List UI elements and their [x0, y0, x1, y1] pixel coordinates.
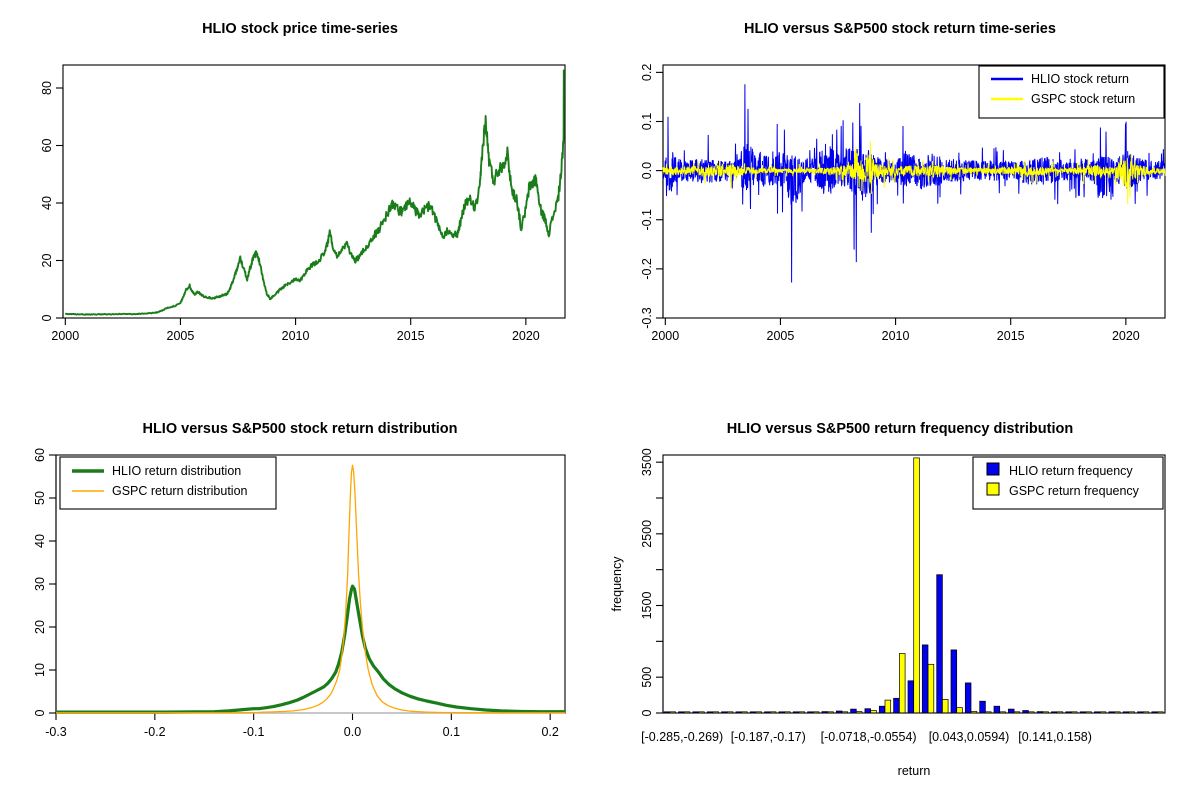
x-tick-label: 0.0: [344, 725, 361, 739]
y-tick-label: 20: [33, 620, 47, 634]
legend-label: GSPC stock return: [1031, 92, 1135, 106]
x-tick-label: 2010: [882, 329, 910, 343]
figure-grid: HLIO stock price time-series 20002005201…: [0, 0, 1200, 800]
panel-return-distribution: HLIO versus S&P500 stock return distribu…: [0, 400, 600, 800]
return-distribution-chart: HLIO versus S&P500 stock return distribu…: [0, 400, 600, 800]
hlio-bar: [994, 706, 1000, 713]
x-tick-label: [0.141,0.158): [1018, 730, 1092, 744]
legend: HLIO return frequencyGSPC return frequen…: [973, 457, 1163, 509]
y-tick-label: 0.1: [640, 113, 654, 130]
axes-group: 20002005201020152020020406080: [40, 65, 565, 343]
x-tick-label: -0.2: [144, 725, 166, 739]
x-tick-label: -0.1: [243, 725, 265, 739]
x-tick-label: 2020: [512, 329, 540, 343]
x-tick-label: 2000: [51, 329, 79, 343]
plot-border: [63, 65, 565, 318]
y-tick-label: 0.2: [640, 64, 654, 81]
y-tick-label: 1500: [640, 592, 654, 620]
x-tick-label: [0.043,0.0594): [929, 730, 1010, 744]
legend-swatch: [987, 483, 999, 495]
hlio-bar: [851, 709, 857, 713]
x-tick-label: [-0.285,-0.269): [641, 730, 723, 744]
hlio-bar: [1008, 709, 1014, 713]
hlio-bar: [922, 645, 928, 713]
y-tick-label: 40: [33, 534, 47, 548]
y-tick-label: 80: [40, 81, 54, 95]
y-tick-label: 50: [33, 491, 47, 505]
panel-return-series: HLIO versus S&P500 stock return time-ser…: [600, 0, 1200, 400]
x-tick-label: 2000: [651, 329, 679, 343]
x-axis-label: return: [898, 764, 931, 778]
data-group: [65, 70, 564, 315]
legend-label: HLIO return frequency: [1009, 464, 1133, 478]
panel-title: HLIO versus S&P500 stock return distribu…: [142, 421, 457, 437]
y-tick-label: 40: [40, 196, 54, 210]
legend-label: HLIO stock return: [1031, 72, 1129, 86]
x-tick-label: 2015: [397, 329, 425, 343]
hlio-bar: [980, 701, 986, 713]
x-tick-label: 0.1: [443, 725, 460, 739]
y-tick-label: -0.1: [640, 209, 654, 231]
gspc-bar: [899, 654, 905, 714]
legend: HLIO stock returnGSPC stock return: [979, 66, 1164, 118]
hlio-bar: [951, 650, 957, 713]
x-tick-label: [-0.0718,-0.0554): [821, 730, 917, 744]
panel-title: HLIO versus S&P500 return frequency dist…: [727, 421, 1073, 437]
gspc-bar: [928, 664, 934, 713]
legend-label: GSPC return frequency: [1009, 484, 1140, 498]
y-tick-label: 0: [40, 314, 54, 321]
hlio-bar: [937, 575, 943, 713]
x-tick-label: 2005: [167, 329, 195, 343]
y-tick-label: 500: [640, 667, 654, 688]
y-tick-label: 60: [40, 139, 54, 153]
legend-label: HLIO return distribution: [112, 464, 241, 478]
hlio-bar: [908, 681, 914, 713]
hlio-bar: [879, 706, 885, 713]
y-tick-label: 3500: [640, 448, 654, 476]
panel-price-series: HLIO stock price time-series 20002005201…: [0, 0, 600, 400]
price-series-chart: HLIO stock price time-series 20002005201…: [0, 0, 600, 400]
y-tick-label: 20: [40, 254, 54, 268]
x-tick-label: 2015: [997, 329, 1025, 343]
x-tick-label: 2010: [282, 329, 310, 343]
y-tick-label: 60: [33, 448, 47, 462]
y-tick-label: 0: [640, 709, 654, 716]
y-tick-label: -0.2: [640, 258, 654, 280]
legend: HLIO return distributionGSPC return dist…: [60, 457, 276, 509]
gspc-bar: [957, 708, 963, 713]
hlio-bar: [894, 698, 900, 713]
x-tick-label: 2005: [767, 329, 795, 343]
gspc-bar: [914, 458, 920, 713]
y-tick-label: 0.0: [640, 162, 654, 179]
return-frequency-chart: HLIO versus S&P500 return frequency dist…: [600, 400, 1200, 800]
y-tick-label: 2500: [640, 520, 654, 548]
x-tick-label: -0.3: [45, 725, 67, 739]
y-tick-label: -0.3: [640, 307, 654, 329]
y-axis-label: frequency: [610, 556, 624, 612]
hlio-bar: [865, 709, 871, 713]
panel-title: HLIO versus S&P500 stock return time-ser…: [744, 21, 1056, 37]
hlio-bar: [965, 683, 971, 713]
x-tick-label: [-0.187,-0.17): [731, 730, 806, 744]
panel-title: HLIO stock price time-series: [202, 21, 398, 37]
x-tick-label: 0.2: [541, 725, 558, 739]
price-line: [65, 70, 564, 315]
y-tick-label: 10: [33, 663, 47, 677]
hlio-density-line: [56, 586, 565, 712]
legend-swatch: [987, 463, 999, 475]
y-tick-label: 30: [33, 577, 47, 591]
legend-label: GSPC return distribution: [112, 484, 248, 498]
return-series-chart: HLIO versus S&P500 stock return time-ser…: [600, 0, 1200, 400]
panel-return-frequency: HLIO versus S&P500 return frequency dist…: [600, 400, 1200, 800]
gspc-bar: [885, 700, 891, 713]
gspc-bar: [942, 699, 948, 713]
y-tick-label: 0: [33, 709, 47, 716]
x-tick-label: 2020: [1112, 329, 1140, 343]
